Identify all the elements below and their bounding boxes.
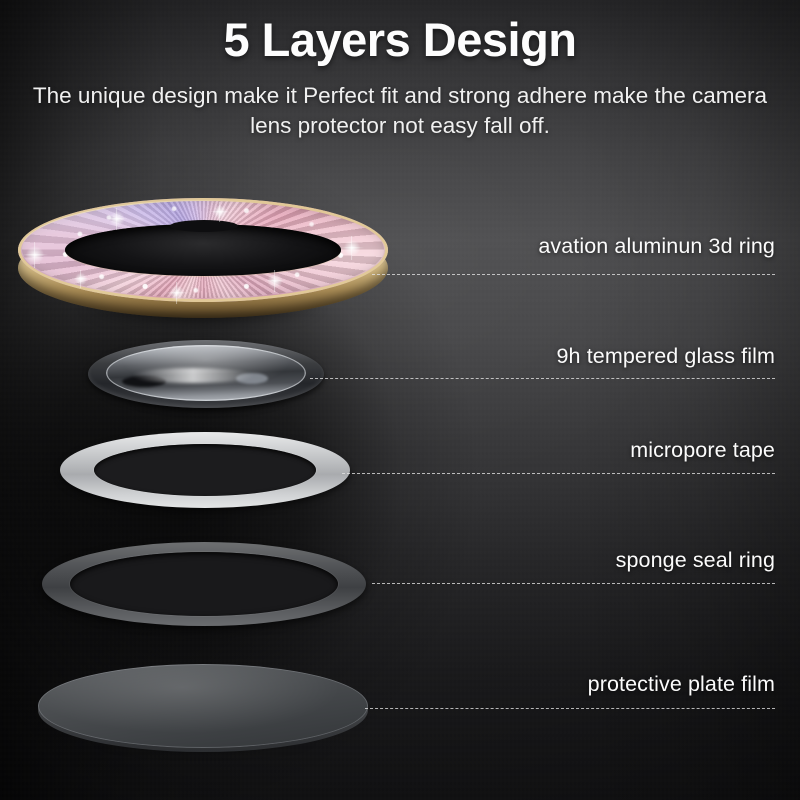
layer-label-5: protective plate film — [588, 672, 775, 697]
leader-line-3 — [342, 473, 775, 474]
product-infographic: 5 Layers Design The unique design make i… — [0, 0, 800, 800]
leader-line-2 — [310, 378, 775, 379]
page-subtitle: The unique design make it Perfect fit an… — [30, 81, 770, 141]
leader-line-5 — [365, 708, 775, 709]
page-title: 5 Layers Design — [0, 14, 800, 67]
plate-top-face — [38, 664, 368, 748]
ring-top-notch — [170, 220, 238, 232]
sponge-inner-hole — [70, 552, 338, 616]
layer-label-2: 9h tempered glass film — [557, 344, 776, 369]
header: 5 Layers Design The unique design make i… — [0, 0, 800, 140]
layer-label-1: avation aluminun 3d ring — [538, 234, 775, 259]
layer-tempered-glass-film — [88, 340, 324, 412]
layer-protective-plate-film — [38, 664, 368, 756]
leader-line-1 — [372, 274, 775, 275]
layer-sponge-seal-ring — [42, 542, 366, 626]
leader-line-4 — [372, 583, 775, 584]
tape-inner-hole — [94, 444, 316, 496]
layer-label-3: micropore tape — [630, 438, 775, 463]
layer-aviation-aluminum-ring — [18, 196, 388, 326]
layer-label-4: sponge seal ring — [616, 548, 775, 573]
layer-micropore-tape — [60, 432, 350, 508]
glass-highlight — [132, 368, 254, 383]
